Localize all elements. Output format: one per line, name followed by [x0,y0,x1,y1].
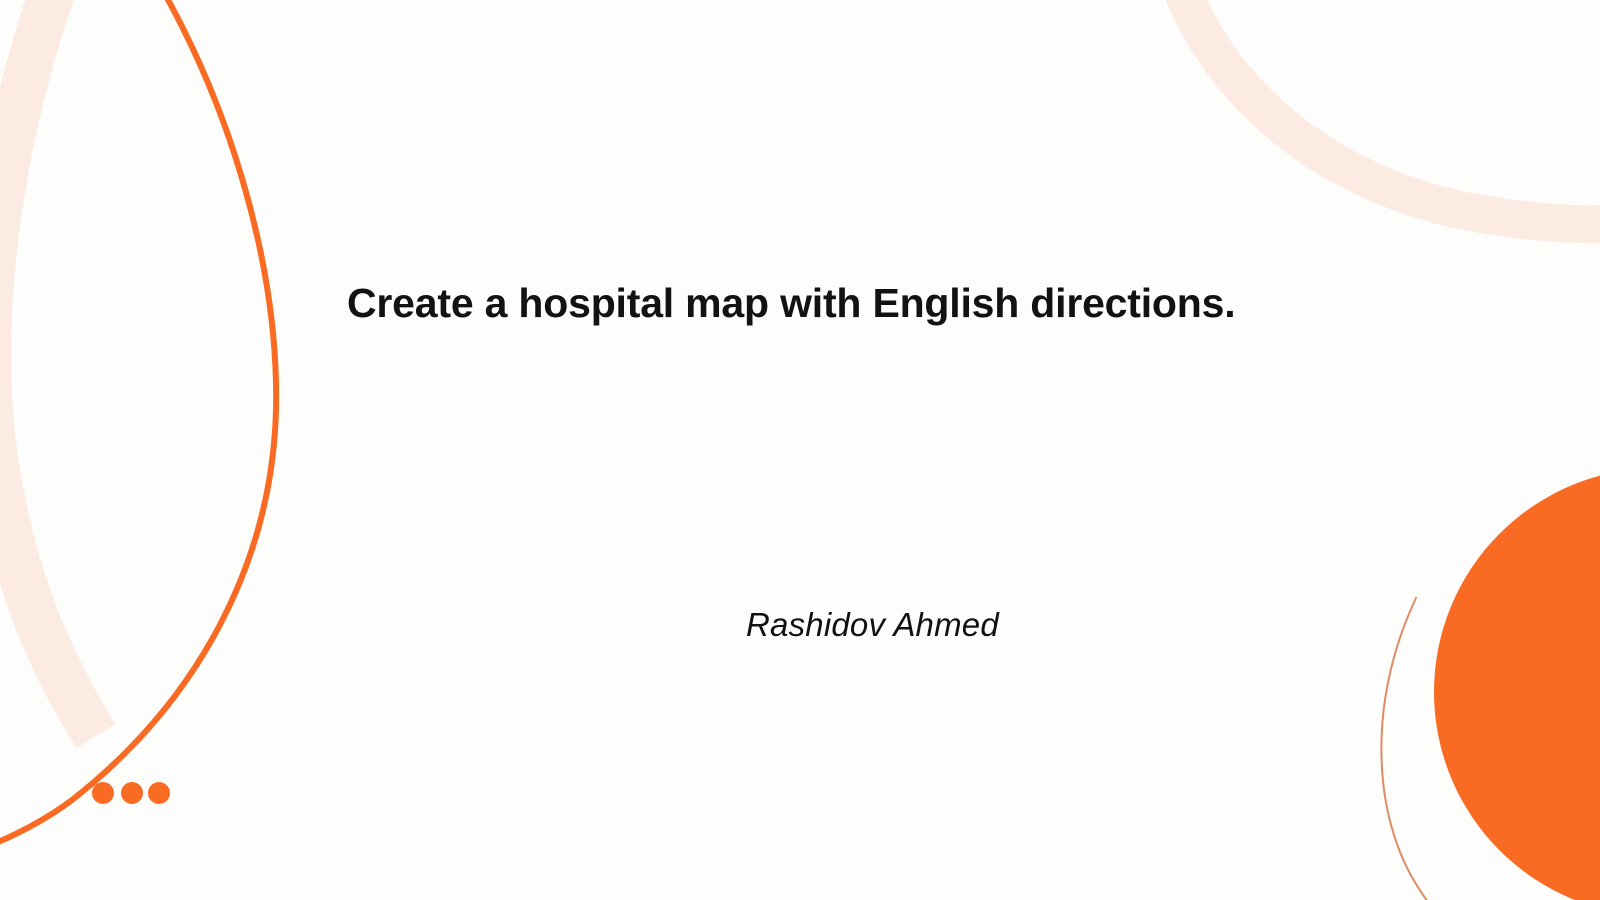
left-peach-arc [0,0,96,736]
top-right-peach-arc [1175,0,1600,224]
decorative-background-layer [0,0,1600,900]
bottom-right-orange-circle [1434,468,1600,900]
dot-1 [92,782,114,804]
left-orange-arc [0,0,276,848]
slide-author: Rashidov Ahmed [746,604,999,646]
bottom-right-thin-arc [1381,598,1436,900]
dot-3 [148,782,170,804]
presentation-slide: Create a hospital map with English direc… [0,0,1600,900]
slide-title: Create a hospital map with English direc… [347,277,1235,329]
dot-2 [121,782,143,804]
